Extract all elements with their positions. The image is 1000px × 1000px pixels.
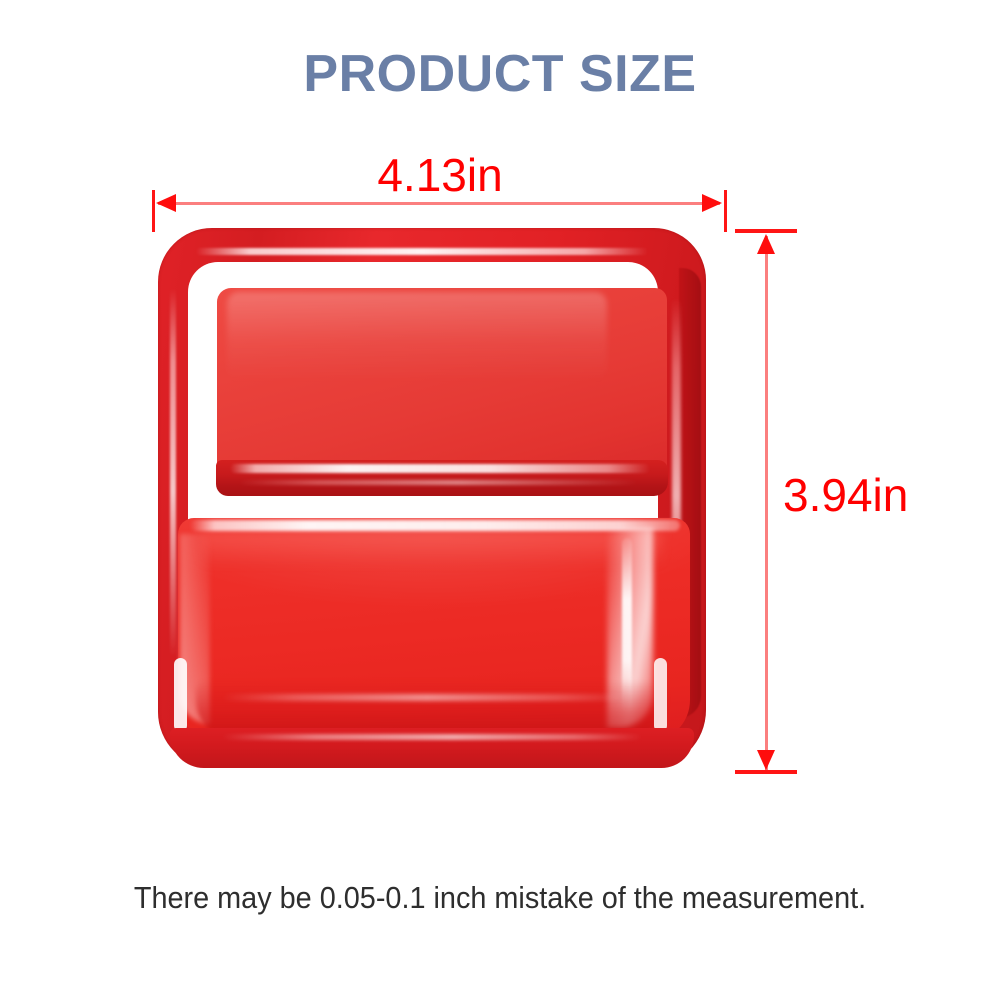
height-dimension-label: 3.94in (783, 468, 908, 522)
measurement-note: There may be 0.05-0.1 inch mistake of th… (35, 880, 965, 916)
frame-left-notch (174, 658, 187, 732)
product-size-diagram: PRODUCT SIZE 4.13in 3.94in (0, 0, 1000, 1000)
width-extension-tick-left (152, 190, 155, 232)
page-title: PRODUCT SIZE (0, 44, 1000, 104)
width-dimension-label: 4.13in (280, 148, 600, 202)
frame-top-highlight (196, 248, 648, 255)
width-extension-tick-right (724, 190, 727, 232)
upper-block-specular-soft (238, 480, 638, 485)
arrow-right-icon (702, 194, 722, 212)
frame-left-highlight (170, 288, 176, 658)
frame-right-notch (654, 658, 667, 732)
arrow-down-icon (757, 750, 775, 770)
width-dimension-line (158, 202, 720, 205)
scoop-inner-shade (202, 532, 662, 566)
scoop-top-rim-highlight (190, 520, 680, 531)
arrow-up-icon (757, 234, 775, 254)
height-extension-tick-bottom (735, 770, 797, 774)
product-image (152, 228, 724, 773)
height-dimension-line (765, 236, 768, 770)
frame-bottom-lip-specular (222, 734, 642, 740)
arrow-left-icon (156, 194, 176, 212)
upper-block-specular (230, 464, 650, 473)
height-extension-tick-top (735, 229, 797, 233)
scoop-floor-specular (222, 694, 632, 701)
upper-block-sheen (227, 292, 607, 382)
